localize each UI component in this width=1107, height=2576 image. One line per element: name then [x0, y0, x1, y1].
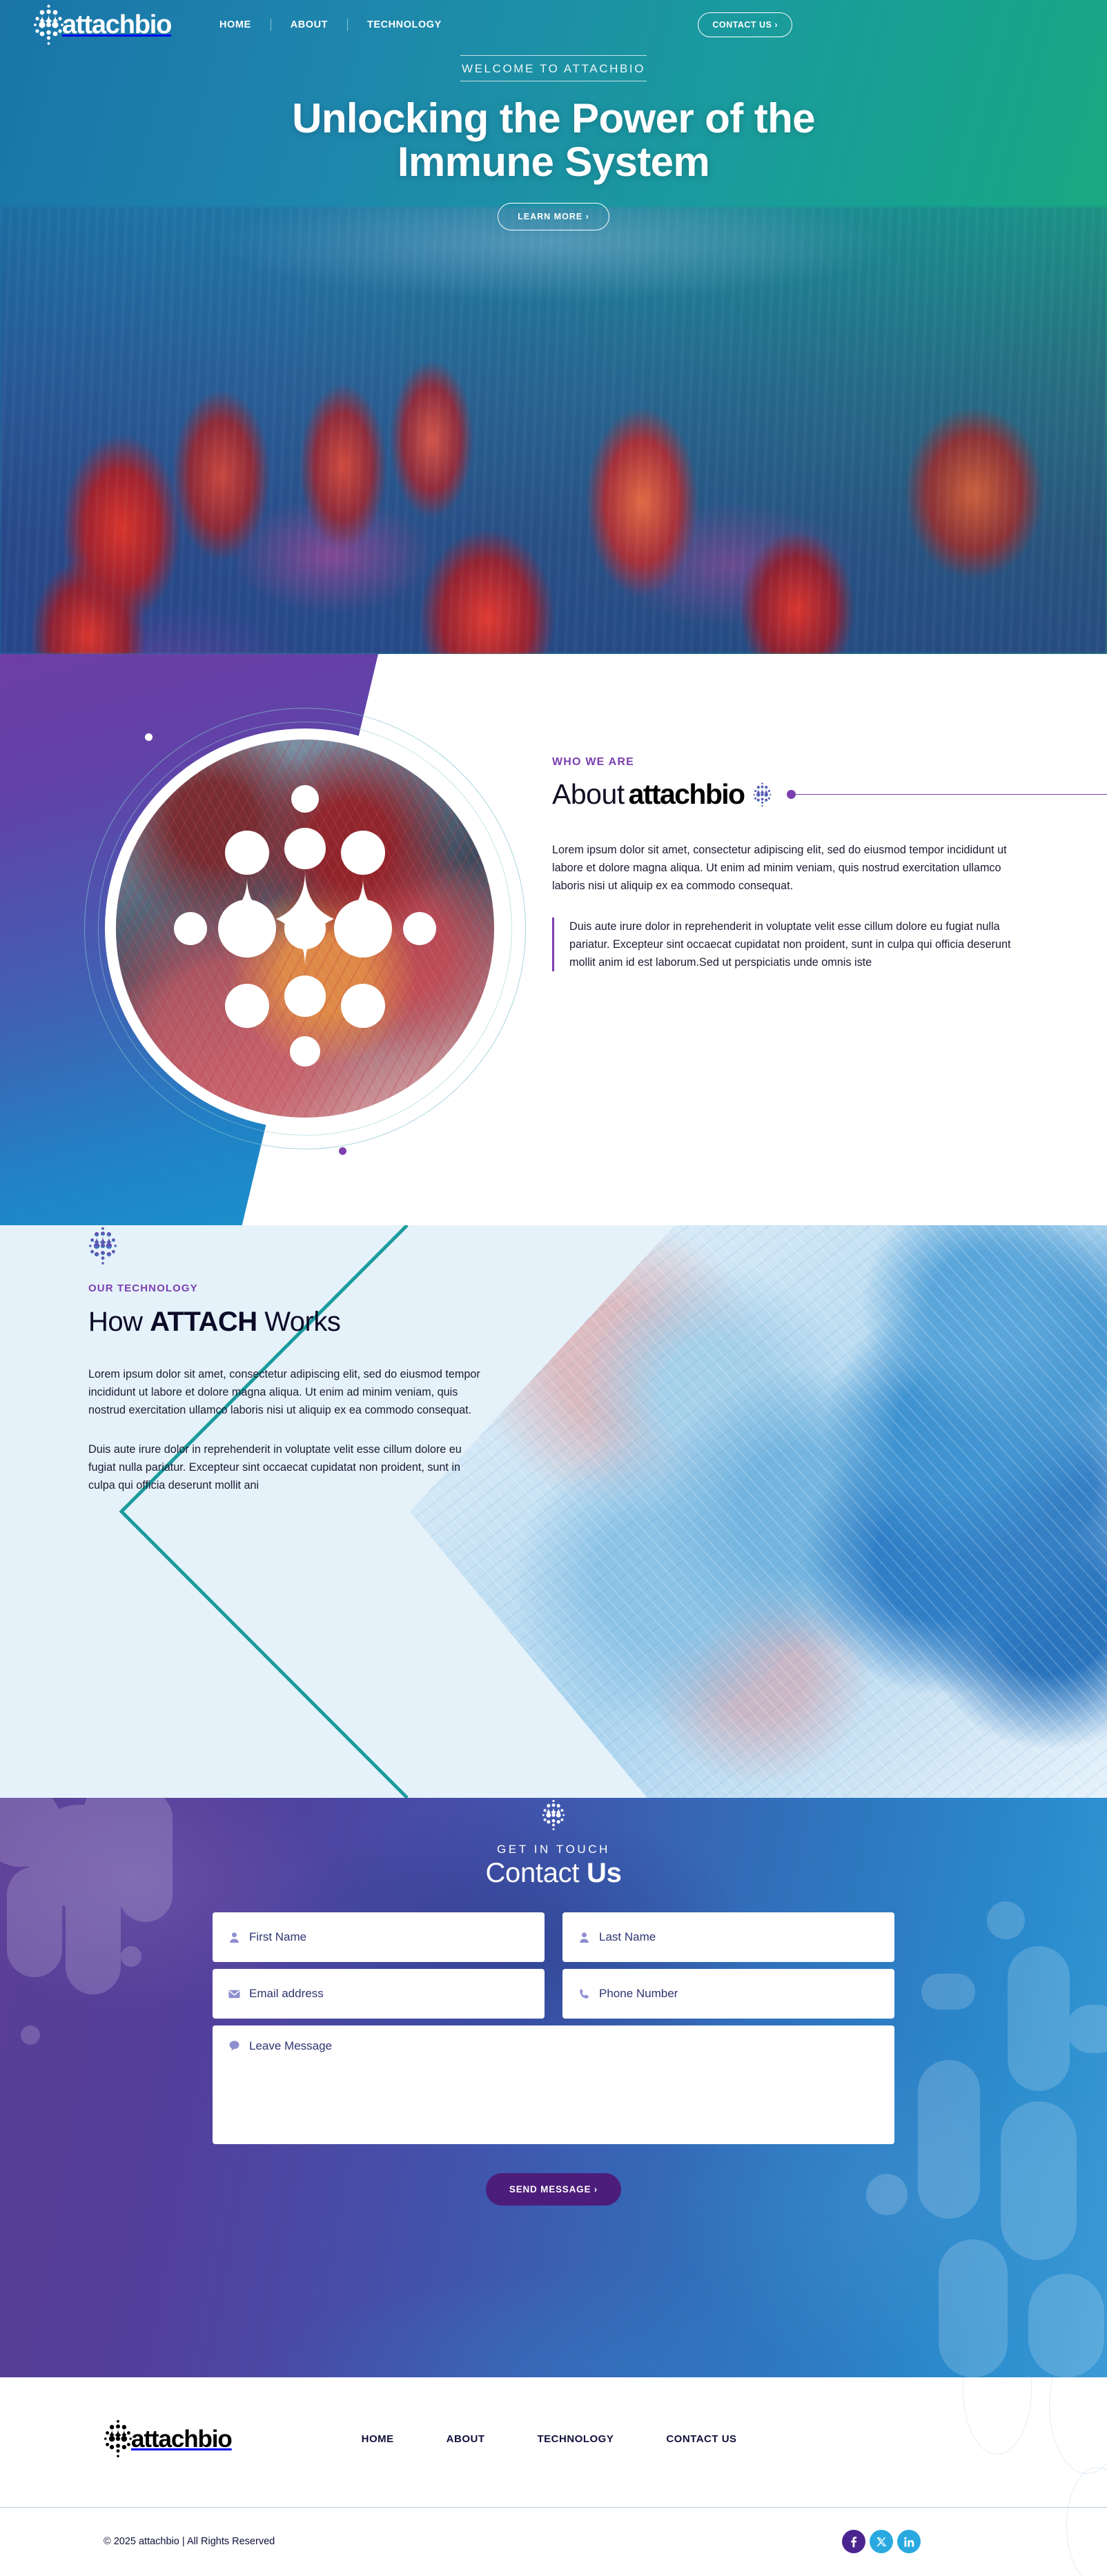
about-heading-dot: [787, 790, 796, 799]
technology-paragraph-2: Duis aute irure dolor in reprehenderit i…: [88, 1440, 489, 1495]
nav-item-about[interactable]: ABOUT: [271, 19, 347, 30]
about-logo-overlay-icon: [116, 740, 494, 1118]
phone-placeholder: Phone Number: [599, 1987, 678, 2001]
nav-links: HOME ABOUT TECHNOLOGY: [200, 19, 461, 31]
technology-heading-bold: ATTACH: [150, 1307, 257, 1337]
copyright-text: © 2025 attachbio | All Rights Reserved: [104, 2536, 275, 2547]
site-footer: attachbio HOME ABOUT TECHNOLOGY CONTACT …: [0, 2377, 1107, 2576]
technology-paragraph-1: Lorem ipsum dolor sit amet, consectetur …: [88, 1365, 489, 1420]
send-message-button[interactable]: SEND MESSAGE ›: [486, 2173, 621, 2206]
hero-eyebrow-wrap: WELCOME TO ATTACHBIO: [460, 55, 647, 81]
last-name-placeholder: Last Name: [599, 1930, 656, 1944]
brand-logo-link[interactable]: attachbio: [33, 3, 171, 46]
hero-section: attachbio HOME ABOUT TECHNOLOGY CONTACT …: [0, 0, 1107, 654]
email-placeholder: Email address: [249, 1987, 324, 2001]
hero-background-image: [0, 207, 1107, 654]
technology-text-block: OUR TECHNOLOGY How ATTACH Works Lorem ip…: [88, 1225, 516, 1494]
nav-item-technology[interactable]: TECHNOLOGY: [348, 19, 461, 30]
footer-wordmark: attachbio: [131, 2427, 232, 2451]
technology-heading: How ATTACH Works: [88, 1307, 516, 1338]
nav-item-home[interactable]: HOME: [200, 19, 271, 30]
message-placeholder: Leave Message: [249, 2039, 332, 2053]
footer-top: attachbio HOME ABOUT TECHNOLOGY CONTACT …: [0, 2377, 1107, 2459]
phone-icon: [578, 1988, 591, 2001]
attachbio-molecule-logo-icon: [88, 1258, 117, 1269]
about-heading-rule: [796, 794, 1107, 795]
attachbio-molecule-logo-icon: [104, 2419, 133, 2459]
hero-eyebrow: WELCOME TO ATTACHBIO: [460, 55, 647, 81]
user-icon: [578, 1931, 591, 1944]
first-name-field[interactable]: First Name: [213, 1912, 545, 1962]
contact-eyebrow: GET IN TOUCH: [0, 1843, 1107, 1856]
about-kicker: WHO WE ARE: [552, 756, 1107, 769]
phone-field[interactable]: Phone Number: [562, 1969, 894, 2019]
footer-brand-link[interactable]: attachbio: [104, 2419, 232, 2459]
contact-inner: GET IN TOUCH Contact Us First Name Last …: [0, 1798, 1107, 2377]
form-row-names: First Name Last Name: [213, 1912, 894, 1962]
about-text-block: WHO WE ARE About attachbio: [552, 654, 1107, 971]
footer-navigation: HOME ABOUT TECHNOLOGY CONTACT US: [335, 2433, 763, 2445]
hero-title: Unlocking the Power of the Immune System: [0, 97, 1107, 184]
message-field[interactable]: Leave Message: [213, 2025, 894, 2144]
technology-heading-light: How: [88, 1307, 150, 1337]
linkedin-icon[interactable]: [897, 2530, 921, 2553]
contact-us-button[interactable]: CONTACT US ›: [698, 12, 792, 37]
attachbio-molecule-logo-icon: [33, 3, 64, 46]
about-accent-dot-white: [145, 733, 153, 741]
about-quote: Duis aute irure dolor in reprehenderit i…: [552, 918, 1035, 972]
hero-title-line-1: Unlocking the Power of the: [292, 95, 815, 141]
technology-kicker: OUR TECHNOLOGY: [88, 1282, 516, 1294]
contact-heading-light: Contact: [485, 1858, 587, 1888]
user-icon: [228, 1931, 241, 1944]
contact-heading: Contact Us: [0, 1858, 1107, 1889]
footer-nav-home[interactable]: HOME: [335, 2433, 420, 2445]
about-section: WHO WE ARE About attachbio: [0, 654, 1107, 1225]
footer-nav-about[interactable]: ABOUT: [420, 2433, 511, 2445]
about-accent-dot-purple: [339, 1147, 346, 1155]
technology-heading-tail: Works: [257, 1307, 341, 1337]
brand-wordmark: attachbio: [62, 12, 171, 38]
email-field[interactable]: Email address: [213, 1969, 545, 2019]
contact-form: First Name Last Name Email address: [213, 1912, 894, 2206]
form-row-contact: Email address Phone Number: [213, 1969, 894, 2019]
facebook-icon[interactable]: [842, 2530, 865, 2553]
last-name-field[interactable]: Last Name: [562, 1912, 894, 1962]
social-links: [842, 2530, 921, 2553]
about-heading-bold: attachbio: [629, 778, 745, 811]
x-twitter-icon[interactable]: [870, 2530, 893, 2553]
hero-title-line-2: Immune System: [398, 139, 709, 185]
about-paragraph: Lorem ipsum dolor sit amet, consectetur …: [552, 841, 1035, 895]
main-navigation: attachbio HOME ABOUT TECHNOLOGY CONTACT …: [0, 0, 1107, 50]
first-name-placeholder: First Name: [249, 1930, 306, 1944]
chat-bubble-icon: [228, 2039, 241, 2052]
learn-more-button[interactable]: LEARN MORE ›: [498, 203, 609, 230]
about-heading: About attachbio: [552, 778, 1107, 811]
envelope-icon: [228, 1988, 241, 2001]
footer-nav-technology[interactable]: TECHNOLOGY: [511, 2433, 640, 2445]
contact-heading-bold: Us: [587, 1858, 622, 1888]
about-heading-light: About: [552, 778, 625, 811]
technology-section: OUR TECHNOLOGY How ATTACH Works Lorem ip…: [0, 1225, 1107, 1798]
attachbio-molecule-logo-icon: [542, 1823, 565, 1835]
attachbio-molecule-logo-icon: [753, 781, 772, 809]
footer-nav-contact[interactable]: CONTACT US: [640, 2433, 763, 2445]
footer-bottom: © 2025 attachbio | All Rights Reserved: [0, 2507, 1107, 2576]
contact-section: GET IN TOUCH Contact Us First Name Last …: [0, 1798, 1107, 2377]
